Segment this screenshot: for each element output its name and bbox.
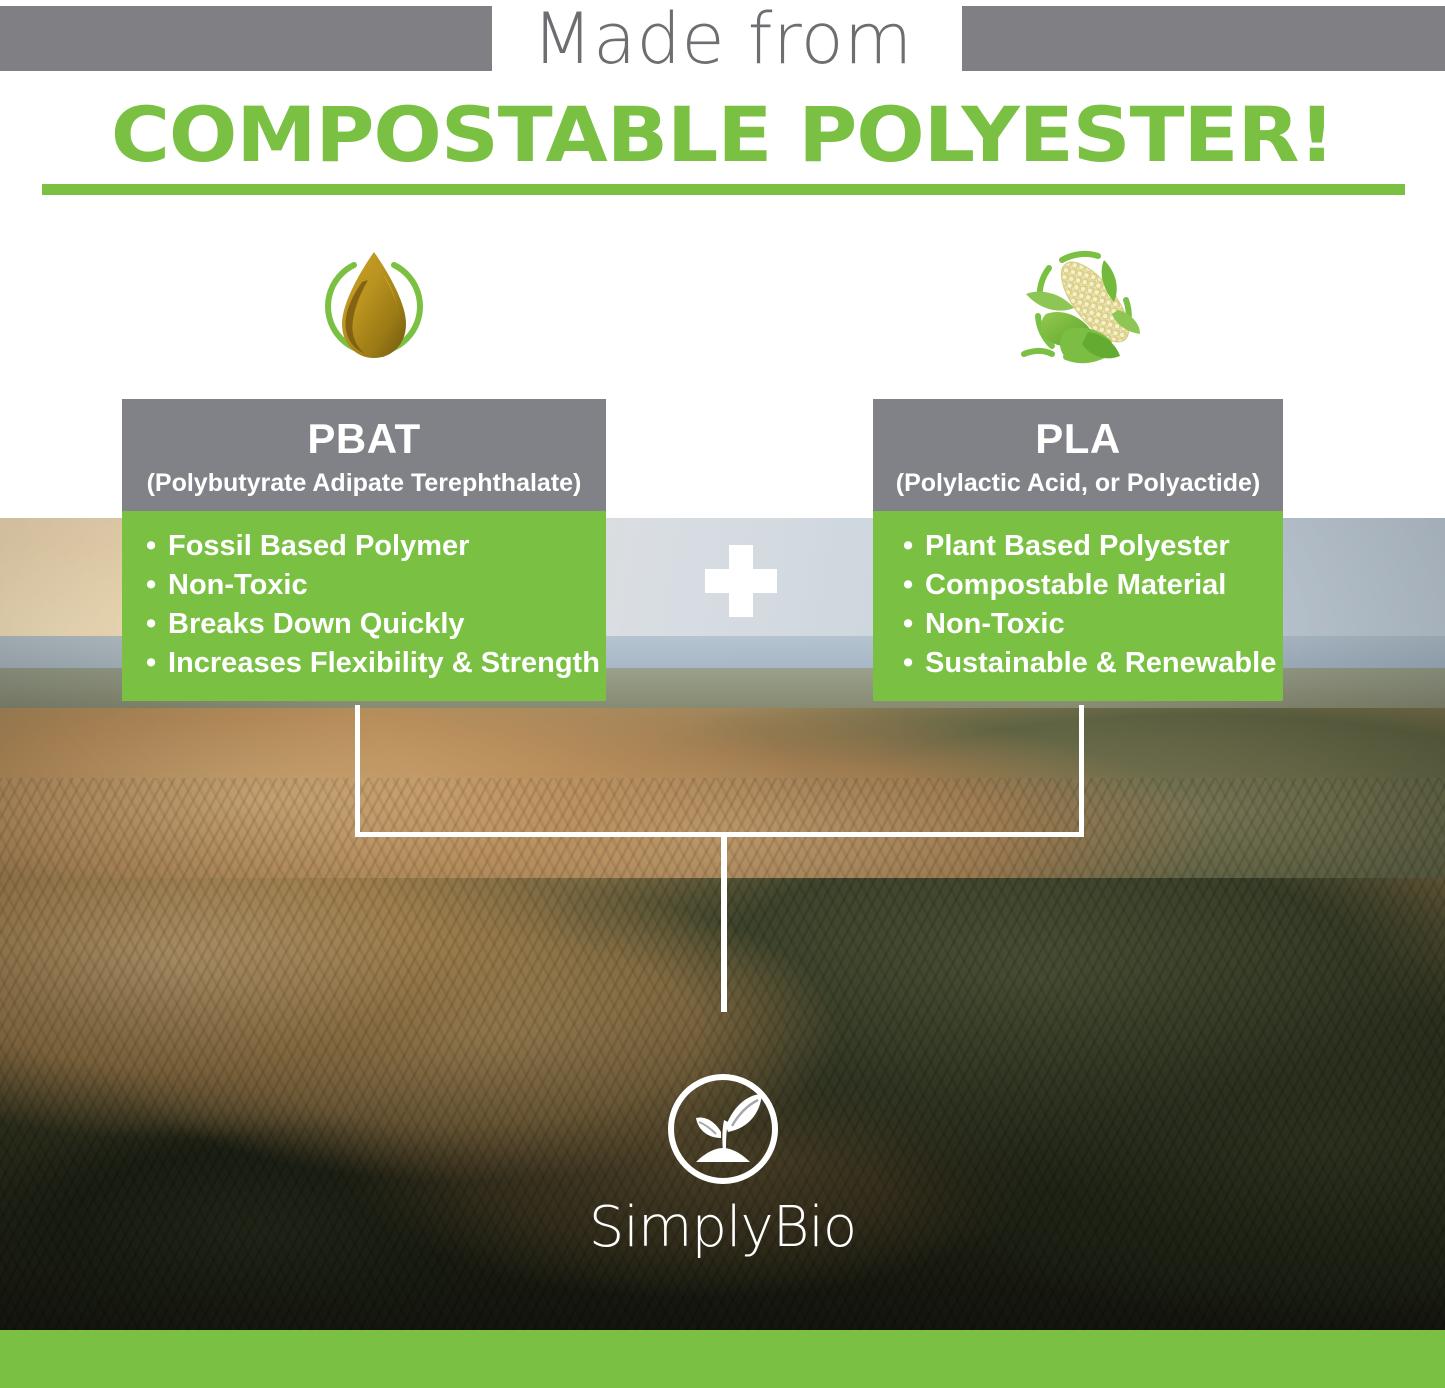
header-eyebrow: Made from [0,0,1445,78]
plus-icon-vertical [729,545,753,617]
brand-logo: SimplyBio [0,1070,1445,1259]
connector-line-left [355,705,360,837]
material-fullname-pla: (Polylactic Acid, or Polyactide) [883,467,1273,499]
brand-name: SimplyBio [0,1197,1445,1259]
material-fullname-pbat: (Polybutyrate Adipate Terephthalate) [132,467,596,499]
material-abbr-pbat: PBAT [132,415,596,463]
material-card-pbat: PBAT (Polybutyrate Adipate Terephthalate… [122,399,606,701]
list-item: Sustainable & Renewable [873,644,1283,683]
material-bullet-list-pbat: Fossil Based Polymer Non-Toxic Breaks Do… [122,527,606,683]
list-item: Plant Based Polyester [873,527,1283,566]
material-card-body-pla: Plant Based Polyester Compostable Materi… [873,511,1283,701]
connector-line-horizontal [355,832,1084,837]
oil-droplet-icon [288,238,460,388]
footer-accent-bar [0,1330,1445,1388]
list-item: Non-Toxic [122,566,606,605]
list-item: Increases Flexibility & Strength [122,644,606,683]
list-item: Fossil Based Polymer [122,527,606,566]
infographic-page: Made from COMPOSTABLE POLYESTER! [0,0,1445,1388]
corn-cob-icon [1000,238,1172,388]
sprout-in-circle-icon [664,1070,782,1188]
headline-underline [42,184,1405,195]
material-card-header-pbat: PBAT (Polybutyrate Adipate Terephthalate… [122,399,606,511]
page-title: COMPOSTABLE POLYESTER! [0,92,1445,178]
connector-line-right [1079,705,1084,837]
connector-line-center [721,832,727,1012]
list-item: Compostable Material [873,566,1283,605]
material-abbr-pla: PLA [883,415,1273,463]
material-bullet-list-pla: Plant Based Polyester Compostable Materi… [873,527,1283,683]
material-card-header-pla: PLA (Polylactic Acid, or Polyactide) [873,399,1283,511]
material-card-pla: PLA (Polylactic Acid, or Polyactide) Pla… [873,399,1283,701]
material-card-body-pbat: Fossil Based Polymer Non-Toxic Breaks Do… [122,511,606,701]
list-item: Non-Toxic [873,605,1283,644]
plus-icon [705,545,777,617]
list-item: Breaks Down Quickly [122,605,606,644]
